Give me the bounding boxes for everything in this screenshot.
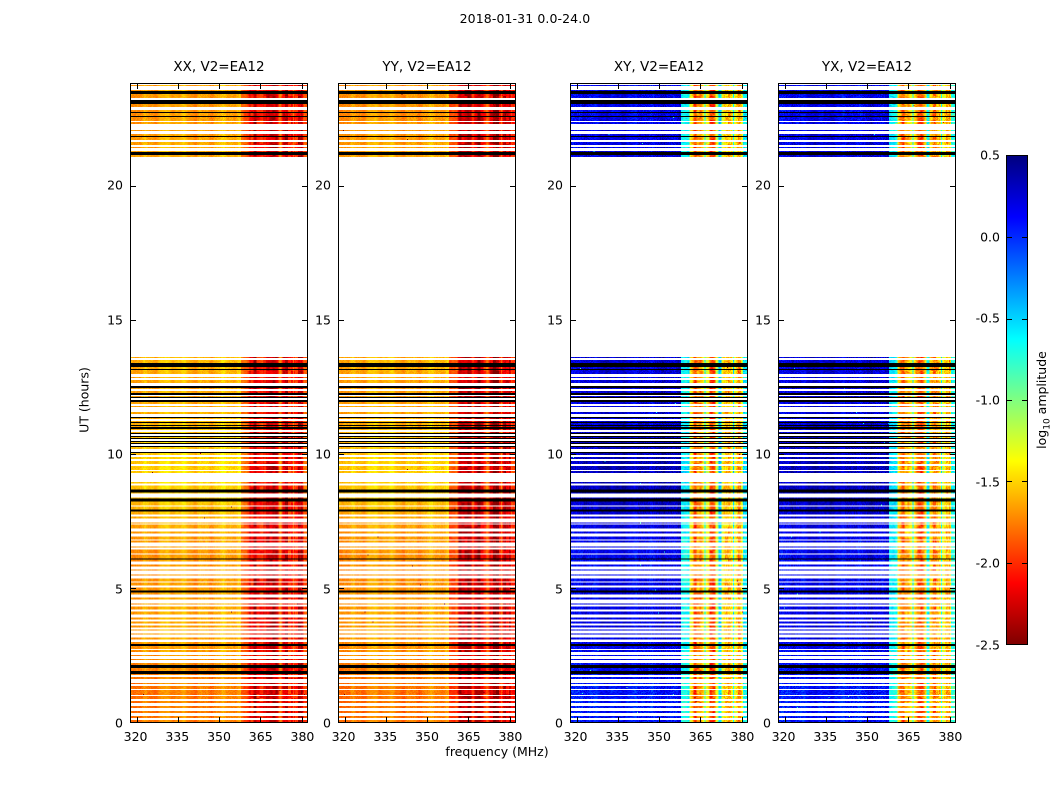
x-tick-label: 320 bbox=[564, 729, 588, 744]
x-tick bbox=[345, 717, 346, 722]
colorbar-tick-label: -1.5 bbox=[976, 474, 1000, 489]
y-tick-right bbox=[742, 588, 747, 589]
x-tick-top bbox=[618, 84, 619, 89]
x-tick-top bbox=[950, 84, 951, 89]
x-tick-label: 380 bbox=[499, 729, 523, 744]
y-tick bbox=[779, 722, 784, 723]
x-tick bbox=[577, 717, 578, 722]
x-tick bbox=[659, 717, 660, 722]
colorbar-tick bbox=[1007, 563, 1012, 564]
y-tick bbox=[131, 722, 136, 723]
x-tick-label: 335 bbox=[165, 729, 189, 744]
panel-yx-axes[interactable] bbox=[778, 83, 956, 723]
colorbar-label: log10 amplitude bbox=[1034, 351, 1050, 449]
panel-yy-title: YY, V2=EA12 bbox=[338, 59, 516, 75]
colorbar-tick-label: -2.0 bbox=[976, 556, 1000, 571]
x-tick bbox=[178, 717, 179, 722]
y-tick-label: 20 bbox=[315, 178, 331, 193]
y-tick-right bbox=[302, 186, 307, 187]
y-tick-label: 20 bbox=[107, 178, 123, 193]
y-tick-right bbox=[510, 454, 515, 455]
y-tick bbox=[779, 320, 784, 321]
colorbar-label-tail: amplitude bbox=[1034, 351, 1049, 418]
panel-yy-heatmap bbox=[339, 84, 515, 722]
panel-yx[interactable]: YX, V2=EA12 32033535036538005101520 bbox=[778, 83, 956, 723]
x-tick-top bbox=[386, 84, 387, 89]
y-tick-label: 0 bbox=[763, 716, 771, 731]
y-tick-right bbox=[510, 588, 515, 589]
y-tick bbox=[571, 722, 576, 723]
panel-xx-title: XX, V2=EA12 bbox=[130, 59, 308, 75]
x-tick-top bbox=[700, 84, 701, 89]
panel-xx-axes[interactable] bbox=[130, 83, 308, 723]
y-tick bbox=[339, 186, 344, 187]
figure-canvas: 2018-01-31 0.0-24.0 XX, V2=EA12 32033535… bbox=[0, 0, 1050, 800]
x-tick-top bbox=[742, 84, 743, 89]
x-tick-label: 350 bbox=[855, 729, 879, 744]
y-tick bbox=[339, 588, 344, 589]
x-tick-label: 365 bbox=[897, 729, 921, 744]
x-tick-top bbox=[427, 84, 428, 89]
colorbar[interactable]: 0.50.0-0.5-1.0-1.5-2.0-2.5 bbox=[1006, 155, 1028, 645]
y-tick-right bbox=[742, 454, 747, 455]
panel-yx-heatmap bbox=[779, 84, 955, 722]
x-tick-label: 365 bbox=[689, 729, 713, 744]
x-tick-label: 320 bbox=[772, 729, 796, 744]
y-tick-label: 20 bbox=[547, 178, 563, 193]
y-tick bbox=[571, 588, 576, 589]
y-tick-label: 0 bbox=[115, 716, 123, 731]
x-tick-label: 350 bbox=[415, 729, 439, 744]
colorbar-tick-label: -2.5 bbox=[976, 638, 1000, 653]
y-tick bbox=[131, 186, 136, 187]
panel-yy[interactable]: YY, V2=EA12 32033535036538005101520 bbox=[338, 83, 516, 723]
colorbar-axes bbox=[1006, 155, 1028, 645]
y-tick-label: 10 bbox=[755, 447, 771, 462]
y-tick-right bbox=[510, 320, 515, 321]
x-tick-top bbox=[826, 84, 827, 89]
x-tick-top bbox=[468, 84, 469, 89]
x-tick-top bbox=[260, 84, 261, 89]
x-tick-label: 350 bbox=[647, 729, 671, 744]
y-tick-label: 10 bbox=[547, 447, 563, 462]
colorbar-tick bbox=[1007, 237, 1012, 238]
y-tick bbox=[339, 722, 344, 723]
y-tick-right bbox=[302, 722, 307, 723]
y-tick-label: 5 bbox=[555, 581, 563, 596]
y-tick bbox=[779, 454, 784, 455]
y-tick bbox=[779, 186, 784, 187]
figure-suptitle: 2018-01-31 0.0-24.0 bbox=[0, 11, 1050, 26]
x-tick bbox=[468, 717, 469, 722]
colorbar-tick-right bbox=[1022, 319, 1027, 320]
x-tick-top bbox=[577, 84, 578, 89]
x-tick-label: 380 bbox=[291, 729, 315, 744]
colorbar-tick-label: 0.5 bbox=[980, 148, 1000, 163]
y-tick-right bbox=[302, 454, 307, 455]
x-tick bbox=[785, 717, 786, 722]
y-tick-right bbox=[742, 722, 747, 723]
panel-xy[interactable]: XY, V2=EA12 32033535036538005101520 bbox=[570, 83, 748, 723]
x-tick-label: 380 bbox=[939, 729, 963, 744]
y-tick-right bbox=[742, 320, 747, 321]
panel-xx[interactable]: XX, V2=EA12 32033535036538005101520 bbox=[130, 83, 308, 723]
colorbar-tick bbox=[1007, 481, 1012, 482]
y-tick-label: 0 bbox=[323, 716, 331, 731]
y-tick bbox=[571, 454, 576, 455]
x-tick-top bbox=[345, 84, 346, 89]
y-tick-label: 10 bbox=[107, 447, 123, 462]
x-tick bbox=[386, 717, 387, 722]
x-tick bbox=[137, 717, 138, 722]
x-tick-top bbox=[302, 84, 303, 89]
x-tick-label: 320 bbox=[332, 729, 356, 744]
y-tick bbox=[779, 588, 784, 589]
y-tick-right bbox=[302, 588, 307, 589]
x-tick bbox=[260, 717, 261, 722]
x-tick bbox=[867, 717, 868, 722]
y-tick bbox=[571, 320, 576, 321]
x-tick bbox=[700, 717, 701, 722]
y-tick-right bbox=[950, 320, 955, 321]
y-tick-label: 0 bbox=[555, 716, 563, 731]
y-tick-right bbox=[950, 722, 955, 723]
x-tick bbox=[219, 717, 220, 722]
colorbar-tick-label: -0.5 bbox=[976, 311, 1000, 326]
colorbar-tick bbox=[1007, 319, 1012, 320]
colorbar-label-main: log bbox=[1034, 430, 1049, 449]
x-tick-label: 380 bbox=[731, 729, 755, 744]
y-tick-right bbox=[510, 722, 515, 723]
colorbar-tick bbox=[1007, 400, 1012, 401]
y-axis-label: UT (hours) bbox=[77, 367, 92, 433]
y-tick-label: 15 bbox=[547, 312, 563, 327]
x-tick-top bbox=[510, 84, 511, 89]
colorbar-tick-label: -1.0 bbox=[976, 393, 1000, 408]
y-tick-right bbox=[950, 588, 955, 589]
panel-xy-title: XY, V2=EA12 bbox=[570, 59, 748, 75]
colorbar-tick-label: 0.0 bbox=[980, 229, 1000, 244]
y-tick-label: 15 bbox=[315, 312, 331, 327]
colorbar-tick-right bbox=[1022, 400, 1027, 401]
panel-xx-heatmap bbox=[131, 84, 307, 722]
y-tick bbox=[571, 186, 576, 187]
y-tick-right bbox=[302, 320, 307, 321]
y-tick bbox=[339, 320, 344, 321]
x-tick-label: 335 bbox=[813, 729, 837, 744]
x-tick-top bbox=[137, 84, 138, 89]
x-tick-top bbox=[659, 84, 660, 89]
y-tick-label: 5 bbox=[115, 581, 123, 596]
colorbar-label-sub: 10 bbox=[1042, 418, 1050, 429]
x-tick bbox=[826, 717, 827, 722]
y-tick-right bbox=[950, 186, 955, 187]
y-tick-right bbox=[510, 186, 515, 187]
x-tick bbox=[618, 717, 619, 722]
y-tick bbox=[339, 454, 344, 455]
panel-yx-title: YX, V2=EA12 bbox=[778, 59, 956, 75]
x-tick-top bbox=[867, 84, 868, 89]
colorbar-tick-right bbox=[1022, 481, 1027, 482]
x-tick-label: 365 bbox=[457, 729, 481, 744]
x-tick-label: 335 bbox=[605, 729, 629, 744]
x-tick-label: 350 bbox=[207, 729, 231, 744]
y-tick bbox=[131, 320, 136, 321]
x-axis-label: frequency (MHz) bbox=[445, 744, 548, 759]
x-tick-top bbox=[219, 84, 220, 89]
panel-yy-axes[interactable] bbox=[338, 83, 516, 723]
x-tick-label: 365 bbox=[249, 729, 273, 744]
x-tick-label: 335 bbox=[373, 729, 397, 744]
x-tick-label: 320 bbox=[124, 729, 148, 744]
y-tick-label: 15 bbox=[107, 312, 123, 327]
x-tick-top bbox=[178, 84, 179, 89]
y-tick-label: 5 bbox=[323, 581, 331, 596]
panel-xy-axes[interactable] bbox=[570, 83, 748, 723]
y-tick-label: 15 bbox=[755, 312, 771, 327]
x-tick-top bbox=[908, 84, 909, 89]
x-tick-top bbox=[785, 84, 786, 89]
y-tick-label: 10 bbox=[315, 447, 331, 462]
y-tick bbox=[131, 588, 136, 589]
y-tick-label: 5 bbox=[763, 581, 771, 596]
panel-xy-heatmap bbox=[571, 84, 747, 722]
y-tick bbox=[131, 454, 136, 455]
x-tick bbox=[908, 717, 909, 722]
y-tick-right bbox=[950, 454, 955, 455]
y-tick-label: 20 bbox=[755, 178, 771, 193]
colorbar-tick-right bbox=[1022, 237, 1027, 238]
x-tick bbox=[427, 717, 428, 722]
y-tick-right bbox=[742, 186, 747, 187]
colorbar-tick-right bbox=[1022, 563, 1027, 564]
